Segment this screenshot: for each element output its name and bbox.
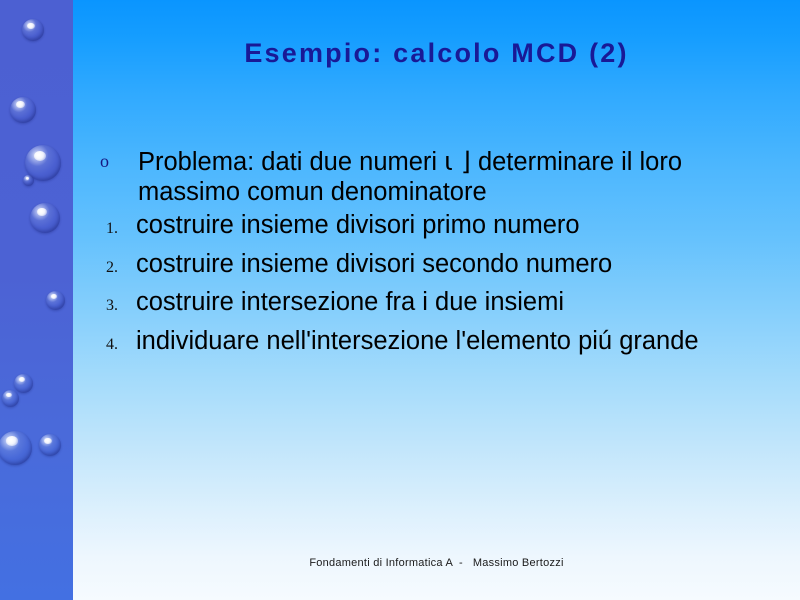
water-droplet-icon: [30, 203, 60, 233]
slide-title: Esempio: calcolo MCD (2): [73, 38, 800, 69]
list-item-number: 2.: [100, 259, 136, 278]
list-item-label: costruire insieme divisori secondo numer…: [136, 250, 790, 280]
list-item-number: 4.: [100, 336, 136, 355]
numbered-step-list: 1. costruire insieme divisori primo nume…: [100, 211, 790, 356]
list-item-label: costruire intersezione fra i due insiemi: [136, 288, 790, 318]
presentation-slide: Esempio: calcolo MCD (2) o Problema: dat…: [0, 0, 800, 600]
bullet-text-before: Problema: dati due numeri: [138, 148, 444, 176]
slide-footer: Fondamenti di Informatica A - Massimo Be…: [73, 557, 800, 569]
water-droplet-icon: [23, 175, 34, 186]
bullet-marker-icon: o: [100, 148, 138, 176]
water-droplet-icon: [14, 374, 33, 393]
list-item-number: 1.: [100, 220, 136, 239]
water-droplet-icon: [46, 291, 65, 310]
bullet-symbol-glyphs: ι ⌋: [444, 147, 471, 177]
bullet-text: Problema: dati due numeri ι ⌋ determinar…: [138, 148, 790, 207]
decorative-sidebar: [0, 0, 73, 600]
water-droplet-icon: [39, 434, 61, 456]
water-droplet-icon: [0, 431, 32, 465]
list-item: 2. costruire insieme divisori secondo nu…: [100, 250, 790, 280]
water-droplet-icon: [22, 19, 44, 41]
slide-body: o Problema: dati due numeri ι ⌋ determin…: [100, 148, 790, 365]
water-droplet-icon: [2, 390, 19, 407]
list-item: 3. costruire intersezione fra i due insi…: [100, 288, 790, 318]
list-item: 4. individuare nell'intersezione l'eleme…: [100, 327, 790, 357]
bullet-item-problema: o Problema: dati due numeri ι ⌋ determin…: [100, 148, 790, 207]
list-item: 1. costruire insieme divisori primo nume…: [100, 211, 790, 241]
list-item-number: 3.: [100, 297, 136, 316]
list-item-label: individuare nell'intersezione l'elemento…: [136, 327, 790, 357]
list-item-label: costruire insieme divisori primo numero: [136, 211, 790, 241]
water-droplet-icon: [10, 97, 36, 123]
